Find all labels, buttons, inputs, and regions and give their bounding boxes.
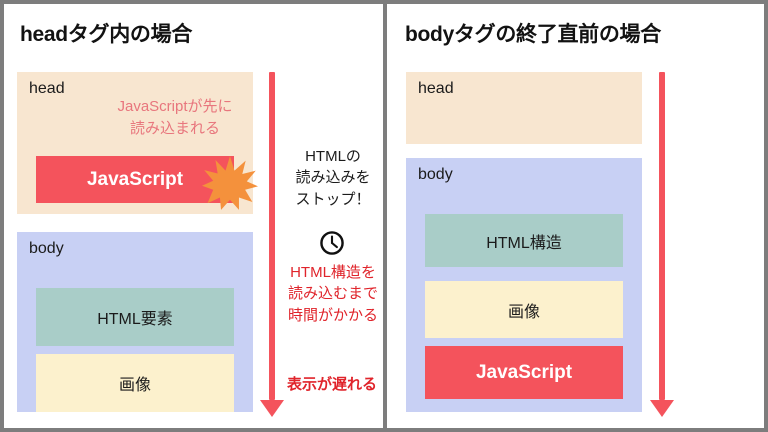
left-head-note-line2: 読み込まれる [95,118,255,140]
starburst-icon [202,155,258,211]
left-note-slow-line3: 時間がかかる [281,305,385,326]
left-note-stop: HTMLの 読み込みを ストップ！ [283,146,383,210]
right-body-label: body [418,166,453,184]
left-head-label: head [29,80,65,98]
left-note-slow-line2: 読み込むまで [281,283,385,304]
right-body-box: body HTML構造 画像 JavaScript [406,158,642,412]
left-panel-title: headタグ内の場合 [20,18,192,48]
left-body-label: body [29,240,64,258]
right-html-structure-label: HTML構造 [425,229,623,253]
left-note-delay: 表示が遅れる [279,376,385,394]
left-head-note: JavaScriptが先に 読み込まれる [95,96,255,140]
clock-icon [319,230,345,256]
left-note-slow: HTML構造を 読み込むまで 時間がかかる [281,262,385,326]
right-image-label: 画像 [425,298,623,322]
right-panel-title: bodyタグの終了直前の場合 [405,18,661,48]
left-note-slow-line1: HTML構造を [281,262,385,283]
right-javascript-box: JavaScript [425,346,623,399]
comparison-diagram: headタグ内の場合 head JavaScriptが先に 読み込まれる Jav… [0,0,768,432]
right-down-arrow-icon [650,72,674,417]
panel-head-case: headタグ内の場合 head JavaScriptが先に 読み込まれる Jav… [4,4,383,428]
left-body-box: body HTML要素 画像 [17,232,253,412]
left-note-stop-line2: 読み込みを [283,167,383,188]
left-down-arrow-icon [260,72,284,417]
right-image-box: 画像 [425,281,623,338]
panel-body-end-case: bodyタグの終了直前の場合 head body HTML構造 画像 JavaS… [387,4,764,428]
left-note-stop-line1: HTMLの [283,146,383,167]
left-image-label: 画像 [36,371,234,395]
left-html-element-label: HTML要素 [36,305,234,329]
right-html-structure-box: HTML構造 [425,214,623,267]
left-image-box: 画像 [36,354,234,412]
left-note-stop-line3: ストップ！ [283,189,383,210]
left-html-element-box: HTML要素 [36,288,234,346]
right-head-label: head [418,80,454,98]
left-head-note-line1: JavaScriptが先に [95,96,255,118]
right-head-box: head [406,72,642,144]
right-javascript-label: JavaScript [425,362,623,384]
